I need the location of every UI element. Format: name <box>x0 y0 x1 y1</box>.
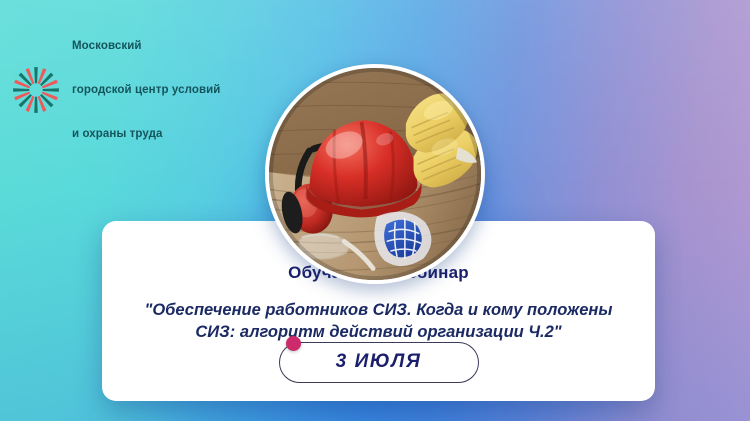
webinar-date-label: 3 ИЮЛЯ <box>336 351 422 372</box>
logo-line-2: городской центр условий <box>72 83 220 98</box>
radial-burst-logo-icon <box>10 64 62 116</box>
webinar-announcement-poster: Московский городской центр условий и охр… <box>0 0 750 421</box>
organization-logo: Московский городской центр условий и охр… <box>10 10 220 171</box>
webinar-date-pill[interactable]: 3 ИЮЛЯ <box>279 342 479 383</box>
logo-line-3: и охраны труда <box>72 127 220 142</box>
safety-equipment-illustration <box>269 68 481 280</box>
date-pill-container: 3 ИЮЛЯ <box>102 342 655 383</box>
date-marker-dot-icon <box>286 336 301 351</box>
webinar-title: "Обеспечение работников СИЗ. Когда и ком… <box>120 299 637 343</box>
organization-name: Московский городской центр условий и охр… <box>72 10 220 171</box>
logo-line-1: Московский <box>72 39 220 54</box>
safety-equipment-photo <box>265 64 485 284</box>
